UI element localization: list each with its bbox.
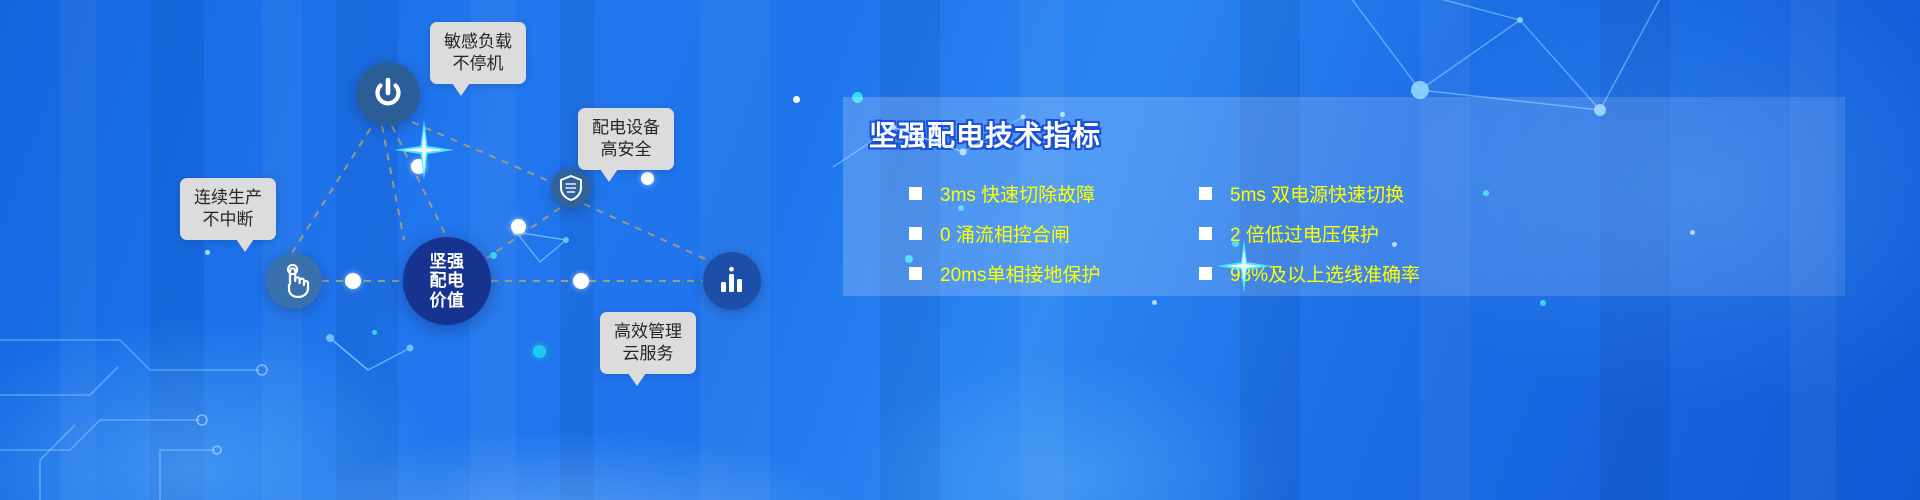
center-node-line-2: 配电 — [430, 271, 465, 290]
square-bullet-icon — [909, 267, 922, 280]
callout-line-1: 敏感负载 — [444, 31, 512, 53]
callout-continuous-production: 连续生产 不中断 — [180, 178, 276, 240]
callout-cloud-service: 高效管理 云服务 — [600, 312, 696, 374]
callout-equipment-safety: 配电设备 高安全 — [578, 108, 674, 170]
bar-chart-icon — [717, 266, 747, 296]
diagram-joint — [573, 273, 589, 289]
value-diagram: 坚强 配电 价值 敏感负载 不停机 配电设备 高安全 连续生产 不中断 高效管理… — [0, 0, 840, 500]
power-icon — [371, 77, 405, 111]
square-bullet-icon — [909, 227, 922, 240]
diagram-joint — [511, 219, 526, 234]
spec-item-label: 2 倍低过电压保护 — [1230, 220, 1379, 247]
spec-item-label: 3ms 快速切除故障 — [940, 180, 1095, 207]
spec-item-label: 98%及以上选线准确率 — [1230, 260, 1420, 287]
center-node-line-1: 坚强 — [430, 252, 465, 271]
diagram-joint — [533, 345, 546, 358]
spec-item-label: 0 涌流相控合闸 — [940, 220, 1070, 247]
spec-item: 5ms 双电源快速切换 — [1199, 173, 1489, 213]
decor-dot — [1152, 300, 1157, 305]
callout-line-2: 不中断 — [194, 209, 262, 231]
callout-line-1: 连续生产 — [194, 187, 262, 209]
shield-node[interactable] — [551, 168, 591, 208]
shield-icon — [559, 175, 583, 201]
spec-item: 0 涌流相控合闸 — [909, 213, 1199, 253]
spec-panel: 坚强配电技术指标 3ms 快速切除故障 5ms 双电源快速切换 0 涌流相控合闸… — [843, 97, 1845, 296]
spec-item-label: 5ms 双电源快速切换 — [1230, 180, 1404, 207]
callout-line-1: 高效管理 — [614, 321, 682, 343]
callout-line-2: 高安全 — [592, 139, 660, 161]
square-bullet-icon — [1199, 227, 1212, 240]
callout-line-2: 不停机 — [444, 53, 512, 75]
diagram-joint — [345, 273, 361, 289]
spec-item: 98%及以上选线准确率 — [1199, 253, 1489, 293]
decor-dot — [1540, 300, 1546, 306]
spec-list: 3ms 快速切除故障 5ms 双电源快速切换 0 涌流相控合闸 2 倍低过电压保… — [909, 173, 1829, 293]
spec-item: 3ms 快速切除故障 — [909, 173, 1199, 213]
touch-node[interactable] — [266, 253, 322, 309]
spec-item-label: 20ms单相接地保护 — [940, 260, 1100, 287]
chart-node[interactable] — [703, 252, 761, 310]
power-node[interactable] — [356, 62, 420, 126]
center-node-line-3: 价值 — [430, 291, 465, 310]
spec-item: 2 倍低过电压保护 — [1199, 213, 1489, 253]
diagram-joint — [411, 159, 426, 174]
spec-panel-title: 坚强配电技术指标 — [869, 114, 1101, 154]
callout-line-2: 云服务 — [614, 343, 682, 365]
promo-banner: 坚强 配电 价值 敏感负载 不停机 配电设备 高安全 连续生产 不中断 高效管理… — [0, 0, 1920, 500]
touch-icon — [278, 264, 310, 298]
diagram-joint — [641, 172, 654, 185]
square-bullet-icon — [909, 187, 922, 200]
square-bullet-icon — [1199, 187, 1212, 200]
square-bullet-icon — [1199, 267, 1212, 280]
center-node: 坚强 配电 价值 — [403, 237, 491, 325]
callout-sensitive-load: 敏感负载 不停机 — [430, 22, 526, 84]
callout-line-1: 配电设备 — [592, 117, 660, 139]
spec-item: 20ms单相接地保护 — [909, 253, 1199, 293]
